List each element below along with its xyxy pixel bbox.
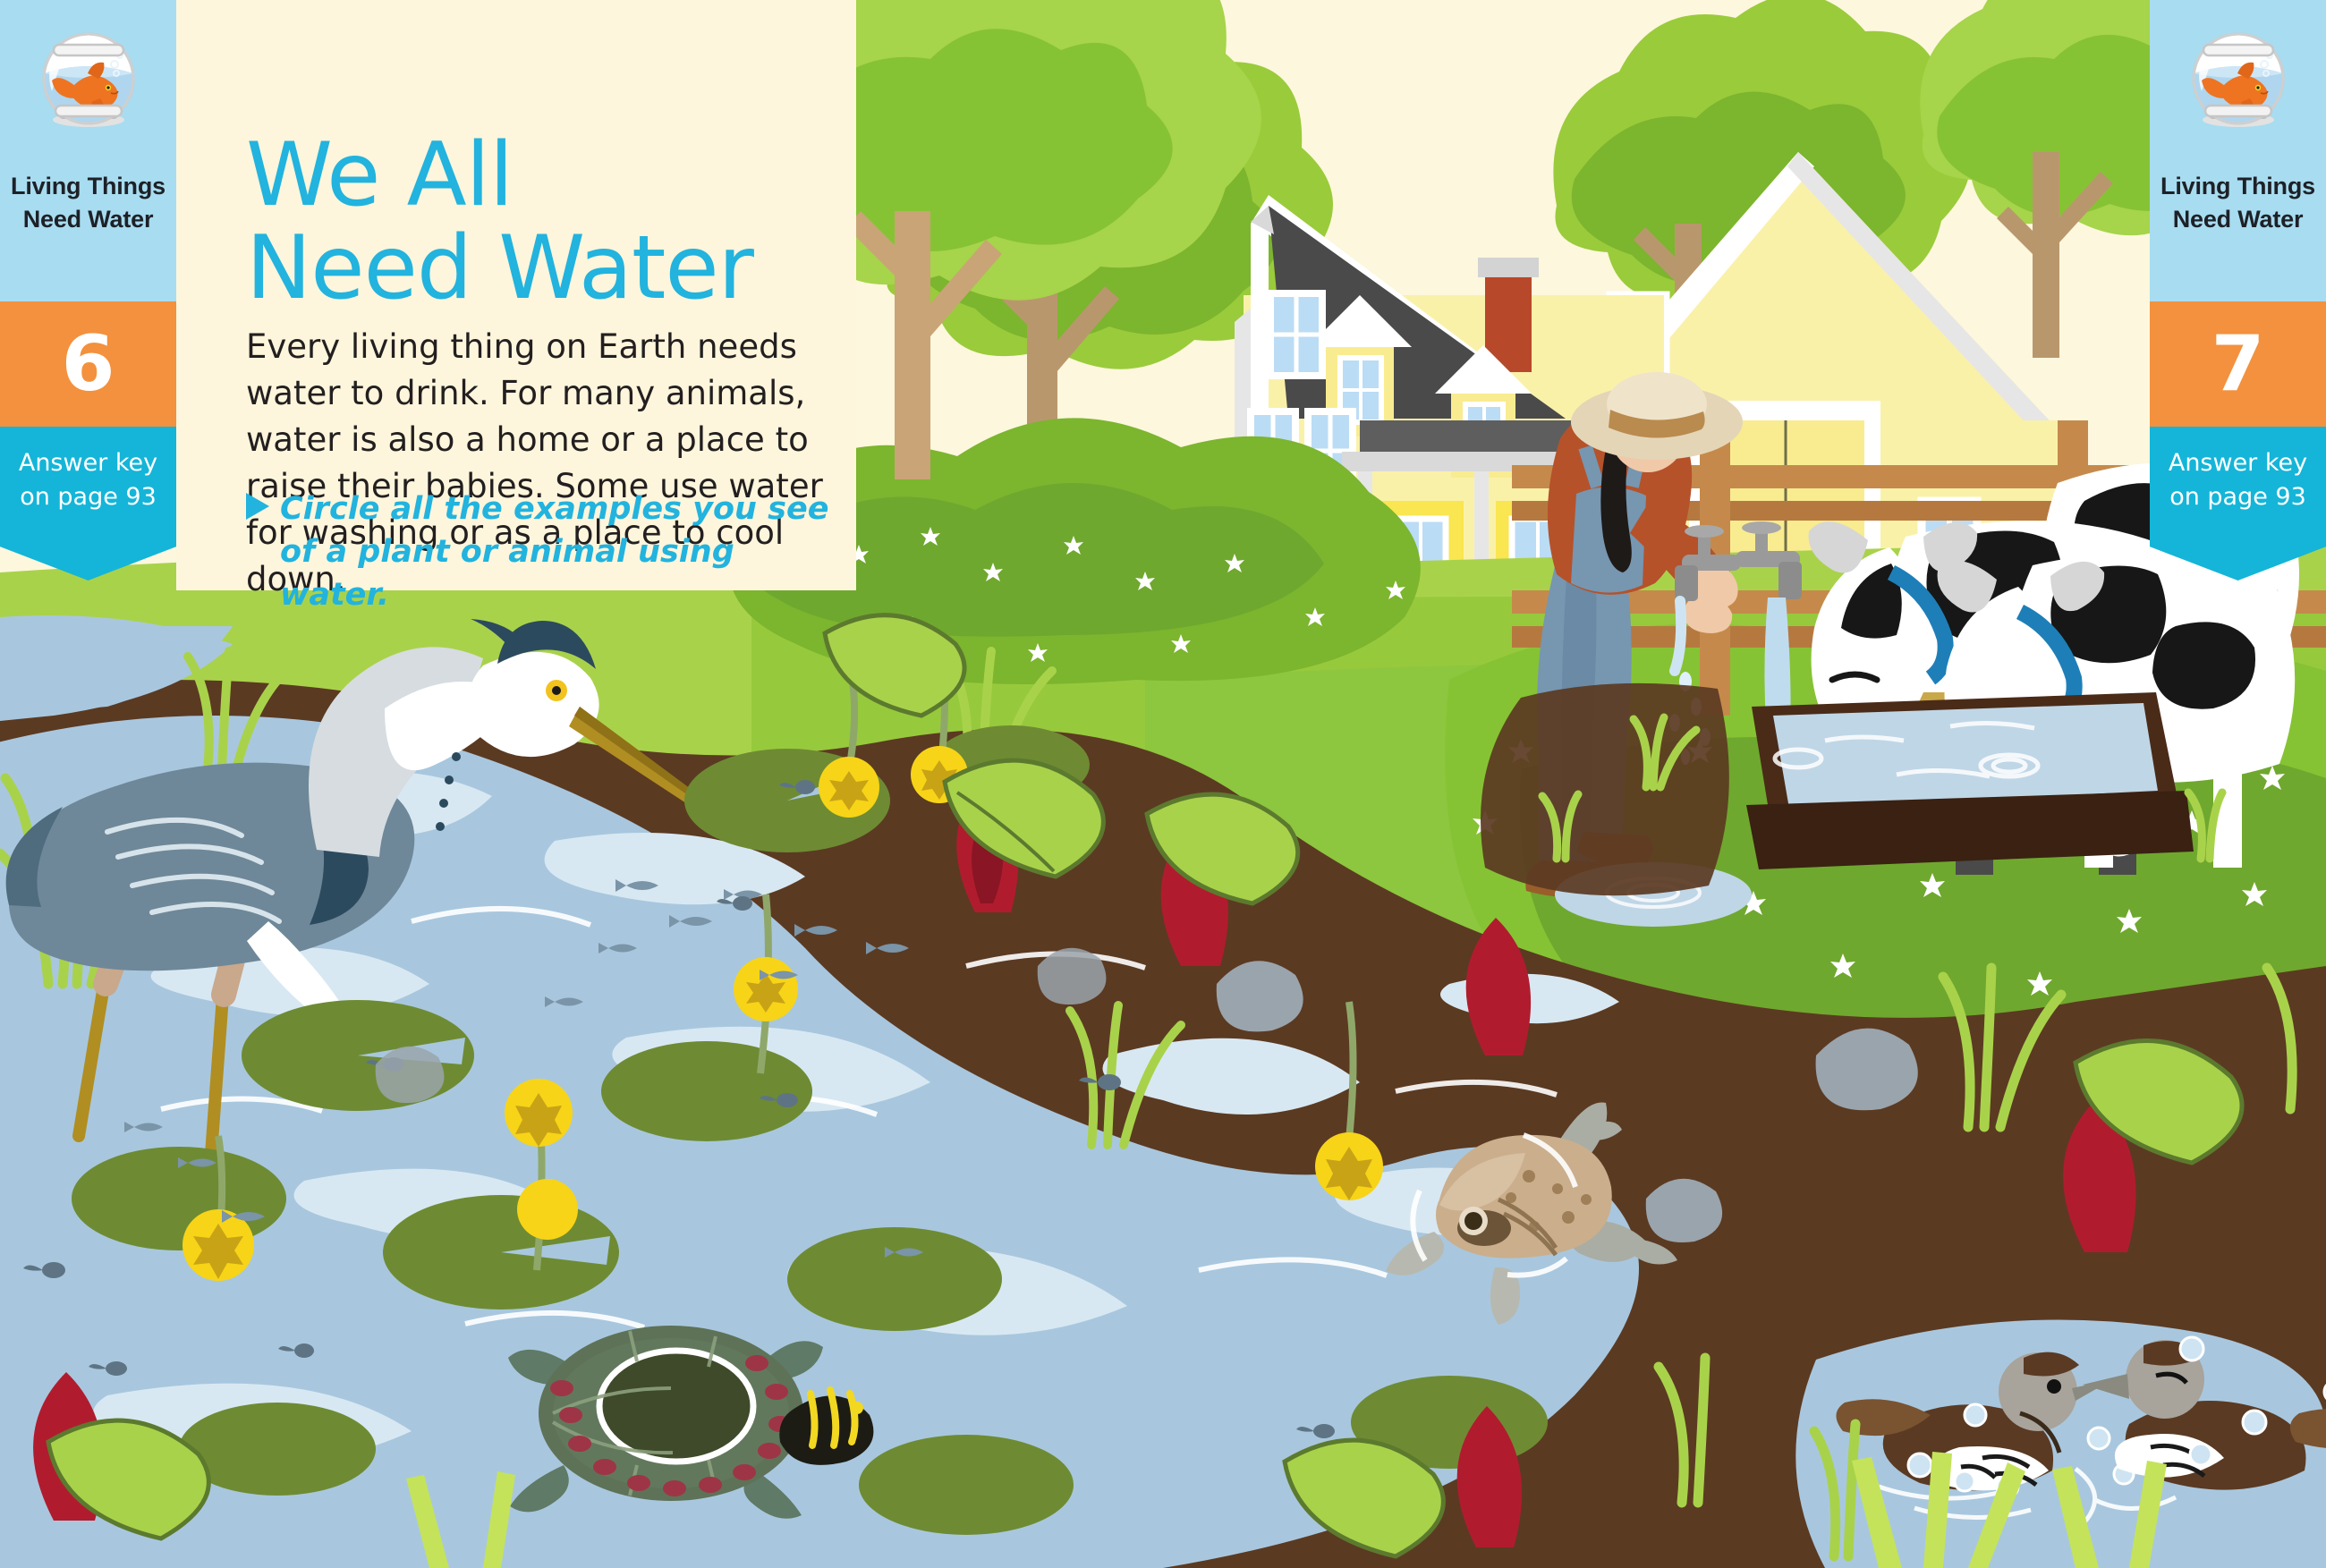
water-trough — [1746, 692, 2194, 869]
lily-flower — [819, 757, 879, 818]
activity-instruction: Circle all the examples you see of a pla… — [246, 487, 836, 616]
sidebar-right-chapter-block: Living Things Need Water — [2150, 0, 2326, 301]
text-panel: We All Need Water Every living thing on … — [176, 0, 856, 590]
sidebar-left-chapter-label: Living Things Need Water — [0, 170, 176, 236]
page-title-line-2: Need Water — [246, 217, 753, 319]
fishbowl-icon — [2182, 20, 2295, 127]
fishbowl-icon — [32, 20, 145, 127]
sidebar-right-chapter-label: Living Things Need Water — [2150, 170, 2326, 236]
book-spread-page: We All Need Water Every living thing on … — [0, 0, 2326, 1568]
sidebar-right-page-block: 7 — [2150, 301, 2326, 427]
lily-flower — [505, 1079, 573, 1147]
page-title-line-1: We All — [246, 124, 513, 226]
lily-flower — [1315, 1132, 1383, 1200]
activity-instruction-text: Circle all the examples you see of a pla… — [280, 487, 836, 616]
sidebar-right: Living Things Need Water 7 Answer key on… — [2150, 0, 2326, 1568]
answer-key-text-right: Answer key on page 93 — [2150, 446, 2326, 514]
lily-flower — [517, 1179, 578, 1240]
page-number-left: 6 — [0, 301, 176, 427]
arrow-bullet-icon — [246, 493, 269, 520]
sidebar-left-chapter-block: Living Things Need Water — [0, 0, 176, 301]
sidebar-left-page-block: 6 — [0, 301, 176, 427]
sidebar-left: Living Things Need Water 6 Answer key on… — [0, 0, 176, 1568]
answer-key-text-left: Answer key on page 93 — [0, 446, 176, 514]
lily-flower — [734, 957, 798, 1021]
page-number-right: 7 — [2150, 301, 2326, 427]
page-title: We All Need Water — [246, 129, 854, 315]
